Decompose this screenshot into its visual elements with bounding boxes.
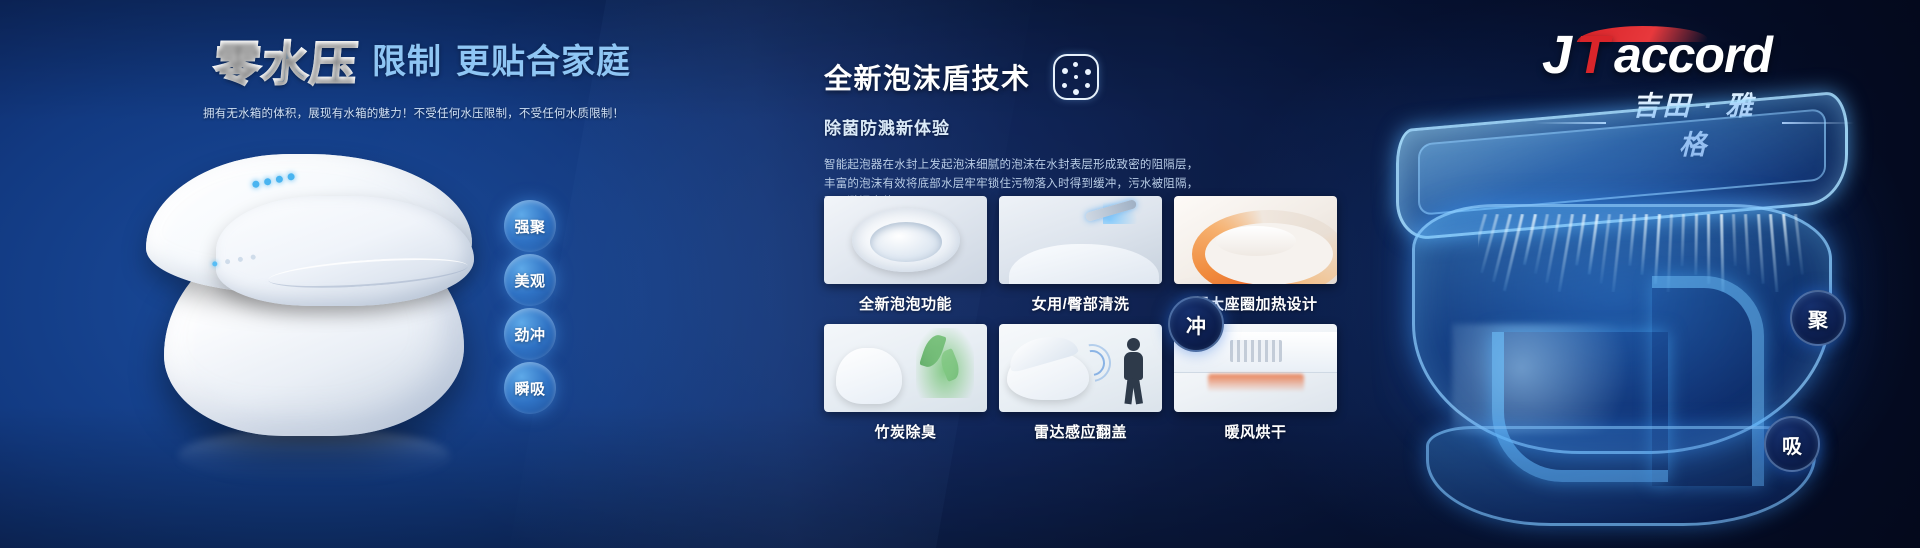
middle-title: 全新泡沫盾技术 <box>824 57 1031 97</box>
headline-main: 零水压 <box>212 40 360 87</box>
body-line-2: 丰富的泡沫有效将底部水层牢牢锁住污物落入时得到缓冲，污水被阻隔， <box>824 175 1336 194</box>
logo-word-rest: accord <box>1614 30 1772 80</box>
left-badge-list: 强聚 美观 劲冲 瞬吸 <box>504 200 568 416</box>
headline-sub: 限制更贴合家庭 <box>372 34 631 83</box>
nozzle-spray-thumb <box>999 196 1162 284</box>
leaf-icon <box>919 332 947 370</box>
middle-panel: 全新泡沫盾技术 除菌防溅新体验 智能起泡器在水封上发起泡沫细腻的泡沫在水封表层形… <box>824 0 1336 548</box>
right-panel: J T accord 吉田 · 雅格 冲 聚 吸 <box>1336 0 1920 548</box>
logo-letter-j: J <box>1542 28 1572 82</box>
feature-label: 全新泡泡功能 <box>824 293 987 314</box>
xray-base <box>1426 426 1816 526</box>
toilet-seat <box>216 196 474 306</box>
heat-glow-icon <box>1208 374 1304 392</box>
middle-subtitle: 除菌防溅新体验 <box>824 114 1336 139</box>
leaf-icon <box>937 348 963 382</box>
body-line-1: 智能起泡器在水封上发起泡沫细腻的泡沫在水封表层形成致密的阻隔层， <box>824 156 1336 175</box>
headline-sub-a: 限制 <box>372 43 442 81</box>
feature-radar-lid[interactable]: 雷达感应翻盖 <box>999 324 1162 442</box>
badge-ju[interactable]: 聚 <box>1790 290 1846 346</box>
logo-letter-t: T <box>1576 28 1609 82</box>
smart-toilet-photo <box>128 132 488 462</box>
logo-wordmark: J T accord <box>1534 24 1854 82</box>
feature-label: 女用/臀部清洗 <box>999 293 1162 314</box>
product-reflection <box>178 428 450 484</box>
feature-grid: 全新泡泡功能 女用/臀部清洗 超大座圈加热设计 <box>824 196 1336 442</box>
badge-xi[interactable]: 吸 <box>1764 416 1820 472</box>
feature-label: 竹炭除臭 <box>824 421 987 442</box>
headline-sub-b: 更贴合家庭 <box>456 43 631 81</box>
badge-qiangju[interactable]: 强聚 <box>504 200 556 252</box>
promo-banner: 零水压 限制更贴合家庭 拥有无水箱的体积，展现有水箱的魅力！不受任何水压限制，不… <box>0 0 1920 548</box>
badge-meiguan[interactable]: 美观 <box>504 254 556 306</box>
badge-shunxi[interactable]: 瞬吸 <box>504 362 556 414</box>
xray-toilet-cutaway: 冲 聚 吸 <box>1360 96 1890 548</box>
feature-foam-function[interactable]: 全新泡泡功能 <box>824 196 987 314</box>
person-icon <box>1118 338 1148 404</box>
feature-deodorize[interactable]: 竹炭除臭 <box>824 324 987 442</box>
xray-rim-jets-icon <box>1478 214 1808 292</box>
left-description: 拥有无水箱的体积，展现有水箱的魅力！不受任何水压限制，不受任何水质限制！ <box>203 105 603 121</box>
feature-label: 雷达感应翻盖 <box>999 421 1162 442</box>
badge-jingchong[interactable]: 劲冲 <box>504 308 556 360</box>
badge-chong[interactable]: 冲 <box>1168 296 1224 352</box>
spray-icon <box>1103 202 1137 224</box>
heated-ring-thumb <box>1174 196 1337 284</box>
bamboo-charcoal-thumb <box>824 324 987 412</box>
feature-row-2: 竹炭除臭 雷达感应翻盖 暖风烘干 <box>824 324 1336 442</box>
feature-row-1: 全新泡泡功能 女用/臀部清洗 超大座圈加热设计 <box>824 196 1336 314</box>
radar-sensor-thumb <box>999 324 1162 412</box>
left-panel: 零水压 限制更贴合家庭 拥有无水箱的体积，展现有水箱的魅力！不受任何水压限制，不… <box>0 0 660 548</box>
headline: 零水压 限制更贴合家庭 <box>214 34 631 87</box>
feature-wash[interactable]: 女用/臀部清洗 <box>999 196 1162 314</box>
toilet-bowl-thumb <box>824 196 987 284</box>
middle-title-row: 全新泡沫盾技术 <box>824 54 1336 100</box>
feature-label: 暖风烘干 <box>1174 421 1337 442</box>
foam-bubble-icon <box>1053 54 1099 100</box>
